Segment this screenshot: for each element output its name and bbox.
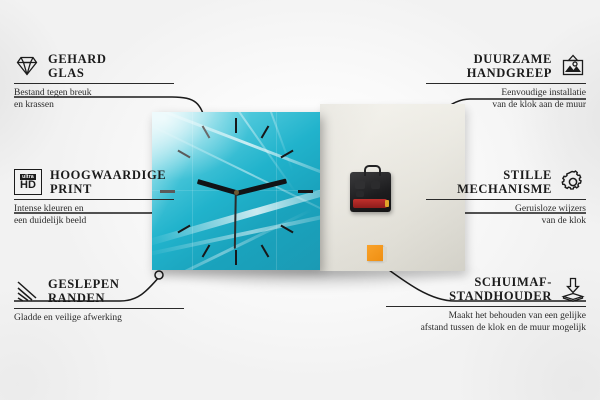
picture-frame-icon (560, 53, 586, 79)
feature-desc-line2: afstand tussen de klok en de muur mogeli… (386, 323, 586, 335)
ultra-hd-icon: ultra HD (14, 169, 42, 195)
feature-title-line1: SCHUIMAF- (449, 275, 552, 289)
feature-polished-edges: GESLEPEN RANDEN Gladde en veilige afwerk… (14, 277, 184, 325)
feature-rule (426, 199, 586, 200)
diamond-icon (14, 53, 40, 79)
gear-icon (560, 169, 586, 195)
diagonal-lines-icon (14, 278, 40, 304)
feature-desc-line1: Maakt het behouden van een gelijke (386, 311, 586, 323)
feature-desc-line1: Gladde en veilige afwerking (14, 313, 184, 325)
feature-title-line1: HOOGWAARDIGE (50, 168, 166, 182)
clock-mechanism (350, 172, 391, 212)
hand-hub (234, 190, 239, 195)
product-infographic: GEHARD GLAS Bestand tegen breuk en krass… (0, 0, 600, 400)
feature-desc-line2: en krassen (14, 100, 174, 112)
feature-rule (14, 199, 174, 200)
feature-silent-mechanism: STILLE MECHANISME Geruisloze wijzers van… (426, 168, 586, 227)
feature-hd-print: ultra HD HOOGWAARDIGE PRINT Intense kleu… (14, 168, 174, 227)
feature-desc-line2: van de klok aan de muur (426, 100, 586, 112)
feature-desc-line2: van de klok (426, 216, 586, 228)
feature-tempered-glass: GEHARD GLAS Bestand tegen breuk en krass… (14, 52, 174, 111)
feature-title-line2: RANDEN (48, 291, 120, 305)
feature-title-line1: GESLEPEN (48, 277, 120, 291)
feature-rule (14, 308, 184, 309)
feature-title-line2: PRINT (50, 182, 166, 196)
mechanism-knob-2 (371, 181, 380, 189)
feature-rule (426, 83, 586, 84)
hd-label-text: HD (20, 180, 36, 191)
battery (353, 199, 387, 208)
mechanism-knob-1 (355, 181, 365, 189)
feature-desc-line1: Eenvoudige installatie (426, 88, 586, 100)
feature-title-line2: GLAS (48, 66, 106, 80)
glass-clock-face (152, 112, 320, 270)
feature-desc-line1: Intense kleuren en (14, 204, 174, 216)
feature-title-line2: HANDGREEP (467, 66, 552, 80)
mechanism-knob-3 (356, 191, 364, 197)
feature-title-line1: DUURZAME (467, 52, 552, 66)
feature-title-line2: MECHANISME (457, 182, 552, 196)
press-down-icon (560, 276, 586, 302)
mechanism-hanger (364, 165, 381, 176)
feature-durable-hanger: DUURZAME HANDGREEP Eenvoudige installati… (426, 52, 586, 111)
feature-title-line2: STANDHOUDER (449, 289, 552, 303)
feature-rule (14, 83, 174, 84)
feature-title-line1: STILLE (457, 168, 552, 182)
feature-rule (386, 306, 586, 307)
feature-desc-line1: Bestand tegen breuk (14, 88, 174, 100)
foam-spacer-pad (367, 245, 383, 261)
feature-desc-line1: Geruisloze wijzers (426, 204, 586, 216)
feature-foam-spacer: SCHUIMAF- STANDHOUDER Maakt het behouden… (386, 275, 586, 334)
feature-title-line1: GEHARD (48, 52, 106, 66)
feature-desc-line2: een duidelijk beeld (14, 216, 174, 228)
